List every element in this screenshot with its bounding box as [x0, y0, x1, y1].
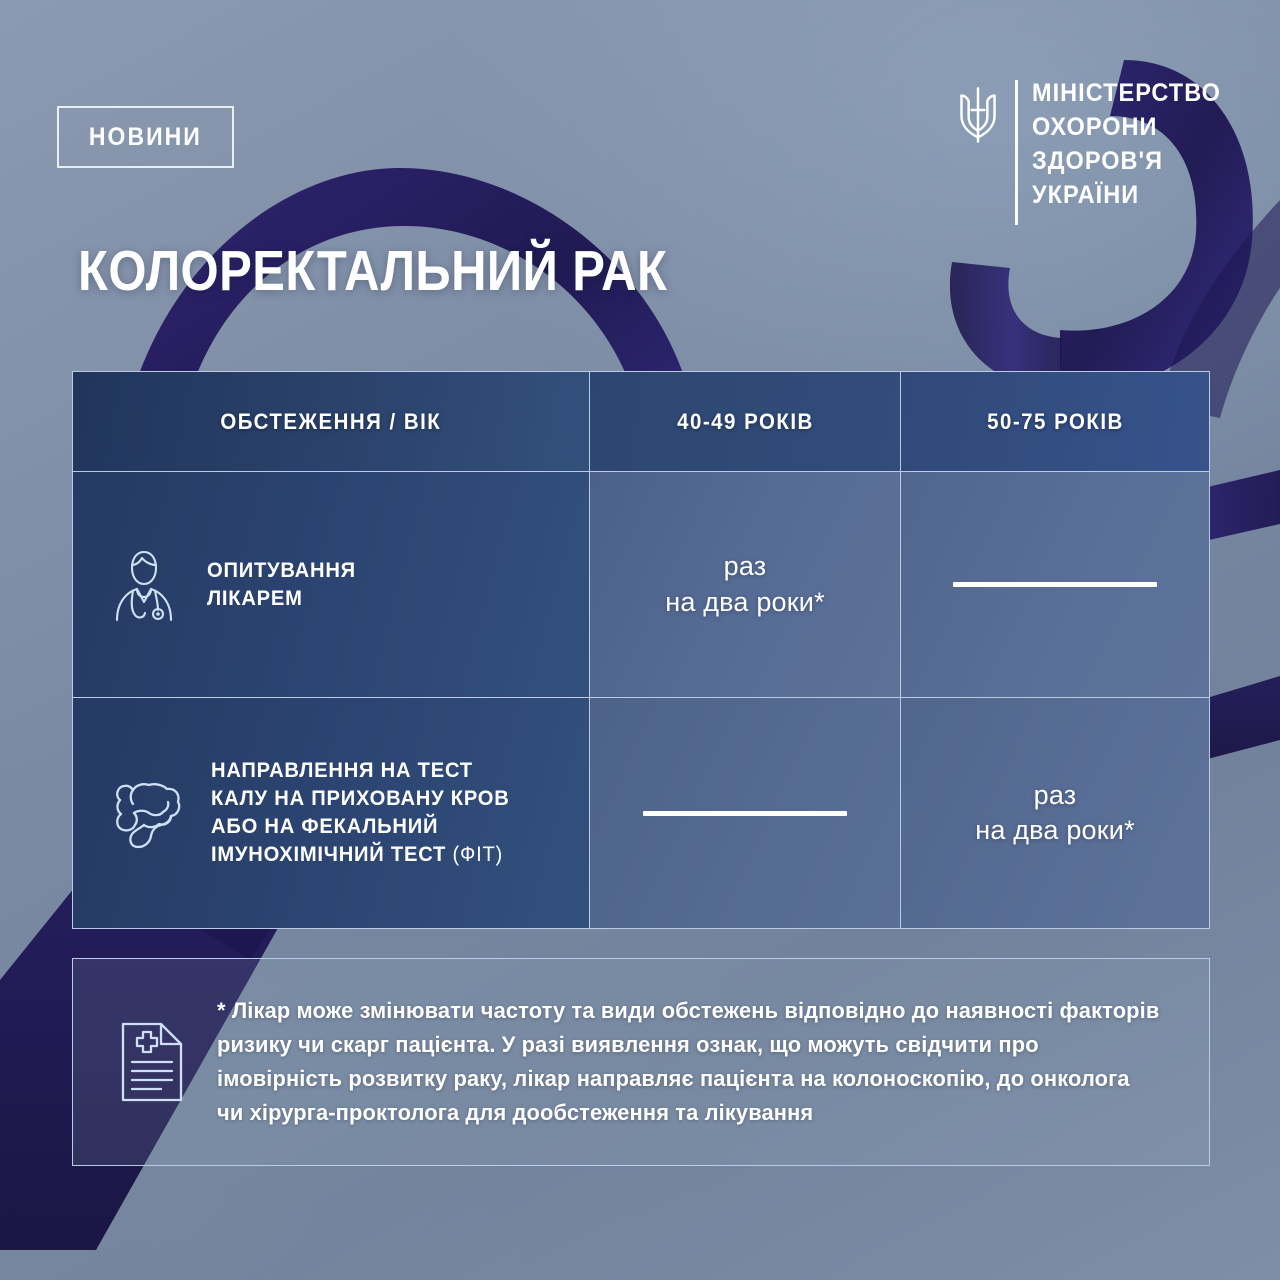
table-header-exam: ОБСТЕЖЕННЯ / ВІК [73, 372, 589, 471]
ministry-logo: МІНІСТЕРСТВО ОХОРОНИ ЗДОРОВ'Я УКРАЇНИ [955, 76, 1233, 225]
freq-cell-stool-test-50-75: раз на два роки* [900, 698, 1209, 928]
exam-label-line-with-suffix: ІМУНОХІМІЧНИЙ ТЕСТ (ФІТ) [211, 841, 510, 869]
freq-cell-stool-test-40-49 [589, 698, 900, 928]
table-header-age-50-75: 50-75 РОКІВ [900, 372, 1209, 471]
exam-cell-stool-test: НАПРАВЛЕННЯ НА ТЕСТ КАЛУ НА ПРИХОВАНУ КР… [73, 698, 589, 928]
not-applicable-dash-wrap [901, 582, 1209, 587]
logo-line-4: УКРАЇНИ [1032, 178, 1221, 212]
news-badge-label: НОВИНИ [89, 123, 202, 152]
frequency-text: раз на два роки* [901, 778, 1209, 848]
footnote-panel: * Лікар може змінювати частоту та види о… [72, 958, 1210, 1166]
not-applicable-dash [953, 582, 1157, 587]
exam-label-line: ЛІКАРЕМ [207, 585, 356, 613]
footnote-text: * Лікар може змінювати частоту та види о… [217, 994, 1179, 1131]
logo-divider [1015, 80, 1018, 225]
logo-line-3: ЗДОРОВ'Я [1032, 144, 1221, 178]
exam-label-doctor-interview: ОПИТУВАННЯ ЛІКАРЕМ [207, 557, 356, 613]
not-applicable-dash-wrap [590, 811, 900, 816]
freq-cell-doctor-interview-50-75 [900, 472, 1209, 697]
table-header-age-40-49: 40-49 РОКІВ [589, 372, 900, 471]
table-header-exam-label: ОБСТЕЖЕННЯ / ВІК [221, 409, 442, 435]
frequency-line-1: раз [590, 549, 900, 584]
intestine-icon [107, 774, 185, 852]
exam-label-line: ОПИТУВАННЯ [207, 557, 356, 585]
exam-label-stool-test: НАПРАВЛЕННЯ НА ТЕСТ КАЛУ НА ПРИХОВАНУ КР… [211, 757, 510, 869]
exam-label-line: ІМУНОХІМІЧНИЙ ТЕСТ [211, 843, 446, 866]
news-badge: НОВИНИ [57, 106, 234, 168]
frequency-line-2: на два роки* [590, 585, 900, 620]
page-title: КОЛОРЕКТАЛЬНИЙ РАК [78, 238, 667, 304]
table-row: ОПИТУВАННЯ ЛІКАРЕМ раз на два роки* [73, 472, 1209, 698]
doctor-stethoscope-icon [107, 546, 181, 624]
not-applicable-dash [643, 811, 847, 816]
exam-label-suffix: (ФІТ) [453, 843, 504, 866]
exam-label-line: АБО НА ФЕКАЛЬНИЙ [211, 813, 510, 841]
table-header-row: ОБСТЕЖЕННЯ / ВІК 40-49 РОКІВ 50-75 РОКІВ [73, 372, 1209, 472]
freq-cell-doctor-interview-40-49: раз на два роки* [589, 472, 900, 697]
table-header-age-40-49-label: 40-49 РОКІВ [677, 409, 814, 435]
exam-label-line: КАЛУ НА ПРИХОВАНУ КРОВ [211, 785, 510, 813]
ukraine-trident-icon [955, 84, 1001, 146]
medical-document-icon [117, 1020, 187, 1104]
exam-label-line: НАПРАВЛЕННЯ НА ТЕСТ [211, 757, 510, 785]
frequency-line-1: раз [901, 778, 1209, 813]
frequency-text: раз на два роки* [590, 549, 900, 619]
exam-cell-doctor-interview: ОПИТУВАННЯ ЛІКАРЕМ [73, 472, 589, 697]
frequency-line-2: на два роки* [901, 813, 1209, 848]
logo-line-1: МІНІСТЕРСТВО [1032, 76, 1221, 110]
logo-text: МІНІСТЕРСТВО ОХОРОНИ ЗДОРОВ'Я УКРАЇНИ [1032, 76, 1221, 212]
poster-canvas: НОВИНИ МІНІСТЕРСТВО ОХОРОНИ ЗДОРОВ'Я УКР… [0, 0, 1280, 1280]
logo-line-2: ОХОРОНИ [1032, 110, 1221, 144]
table-row: НАПРАВЛЕННЯ НА ТЕСТ КАЛУ НА ПРИХОВАНУ КР… [73, 698, 1209, 928]
table-header-age-50-75-label: 50-75 РОКІВ [987, 409, 1124, 435]
screening-table: ОБСТЕЖЕННЯ / ВІК 40-49 РОКІВ 50-75 РОКІВ [72, 371, 1210, 929]
